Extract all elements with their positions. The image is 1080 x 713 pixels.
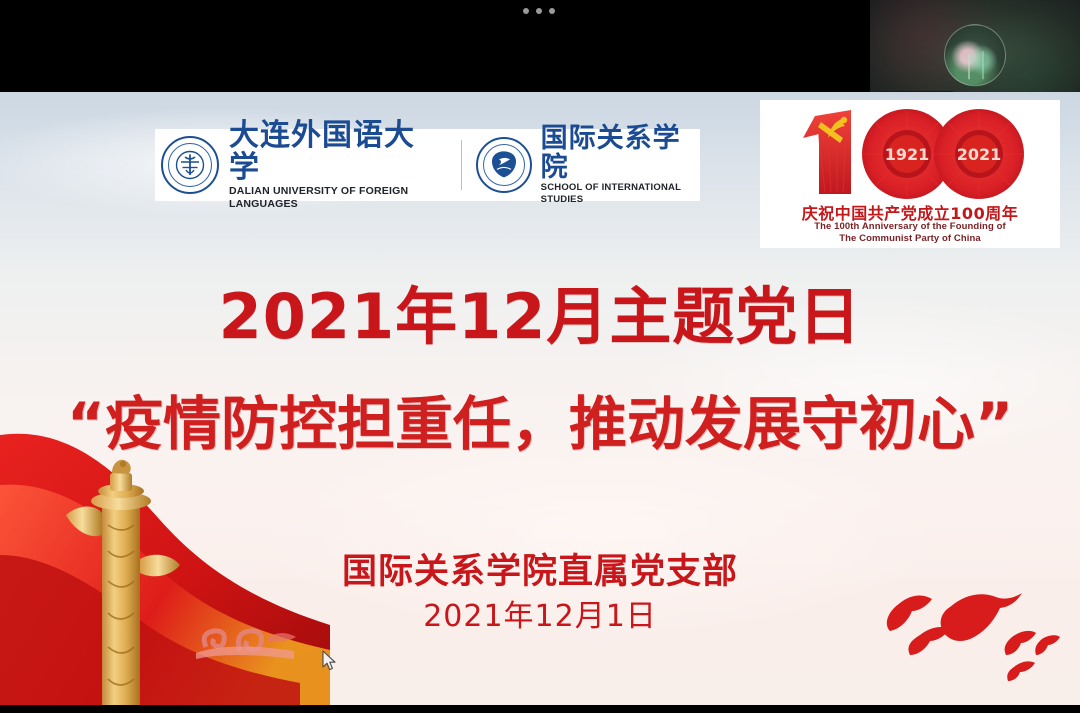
school-name-block: 国际关系学院 SCHOOL OF INTERNATIONAL STUDIES [541, 124, 700, 206]
emblem-year-1921: 1921 [885, 145, 930, 164]
university-name-block: 大连外国语大学 DALIAN UNIVERSITY OF FOREIGN LAN… [229, 120, 445, 211]
seal-glyph [173, 150, 207, 180]
auspicious-cloud-icon [190, 607, 300, 663]
logo-band: 大连外国语大学 DALIAN UNIVERSITY OF FOREIGN LAN… [155, 129, 700, 201]
emblem-caption-en-line2: The Communist Party of China [760, 233, 1060, 244]
meeting-top-bar: 郝利群 [0, 0, 1080, 92]
screen-share-window: 郝利群 大连外国语大学 DALIAN UNIVERSIT [0, 0, 1080, 713]
cpc-100th-anniversary-emblem-icon: 1921 2021 [795, 104, 1025, 200]
university-name-en: DALIAN UNIVERSITY OF FOREIGN LANGUAGES [229, 185, 445, 211]
school-name-en: SCHOOL OF INTERNATIONAL STUDIES [541, 182, 700, 206]
school-name-cn: 国际关系学院 [541, 124, 700, 182]
bottom-black-strip [0, 705, 1080, 713]
emblem-year-2021: 2021 [957, 145, 1002, 164]
cpc-anniversary-panel: 1921 2021 庆祝中国共产党成立100周年 The 100th Anniv… [760, 100, 1060, 248]
dalian-university-seal-icon [161, 136, 219, 194]
emblem-caption-en-line1: The 100th Anniversary of the Founding of [760, 221, 1060, 232]
user-avatar-image [944, 24, 1006, 86]
university-name-cn: 大连外国语大学 [229, 120, 445, 184]
more-horizontal-icon[interactable] [523, 8, 555, 14]
mouse-cursor-icon [322, 650, 338, 672]
seal-shield-glyph [489, 149, 519, 179]
avatar-stem-right [982, 52, 984, 80]
slide-title-main: 2021年12月主题党日 [0, 284, 1080, 350]
huabiao-column-icon [60, 455, 190, 705]
school-of-international-studies-seal-icon [476, 137, 532, 193]
presentation-slide: 大连外国语大学 DALIAN UNIVERSITY OF FOREIGN LAN… [0, 92, 1080, 705]
flying-doves-icon [872, 573, 1072, 683]
logo-divider [461, 140, 462, 190]
avatar-stem-left [968, 54, 970, 79]
